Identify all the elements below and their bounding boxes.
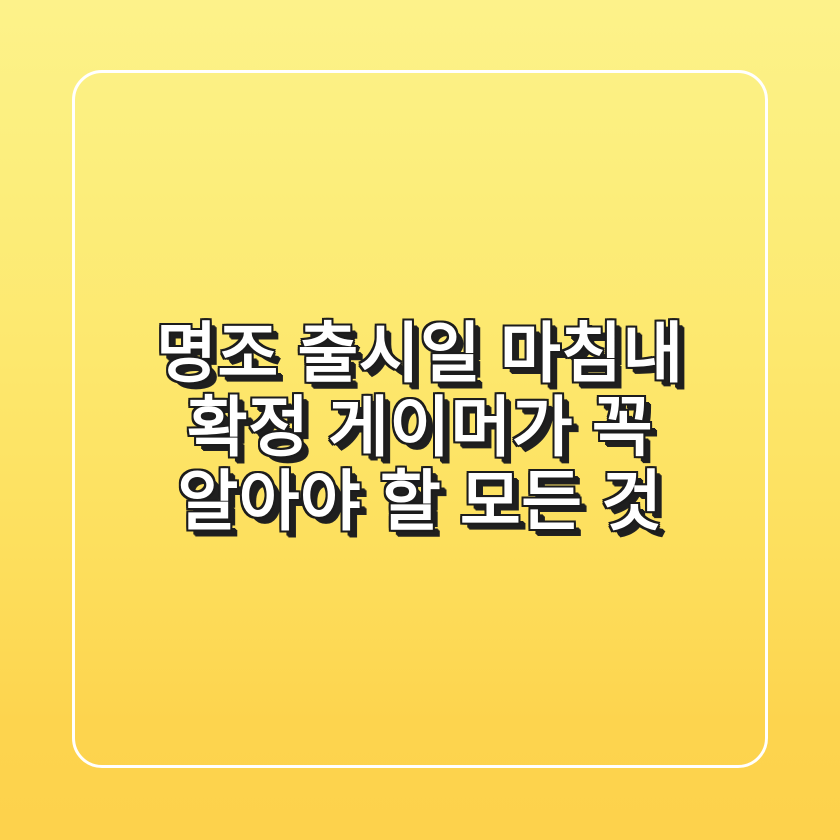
headline-line-3: 알아야 할 모든 것 [177, 464, 662, 538]
headline-line-1: 명조 출시일 마침내 [156, 316, 683, 390]
headline-line-2: 확정 게이머가 꼭 [187, 390, 653, 464]
headline-block: 명조 출시일 마침내 확정 게이머가 꼭 알아야 할 모든 것 [0, 316, 840, 538]
thumbnail-canvas: 명조 출시일 마침내 확정 게이머가 꼭 알아야 할 모든 것 [0, 0, 840, 840]
